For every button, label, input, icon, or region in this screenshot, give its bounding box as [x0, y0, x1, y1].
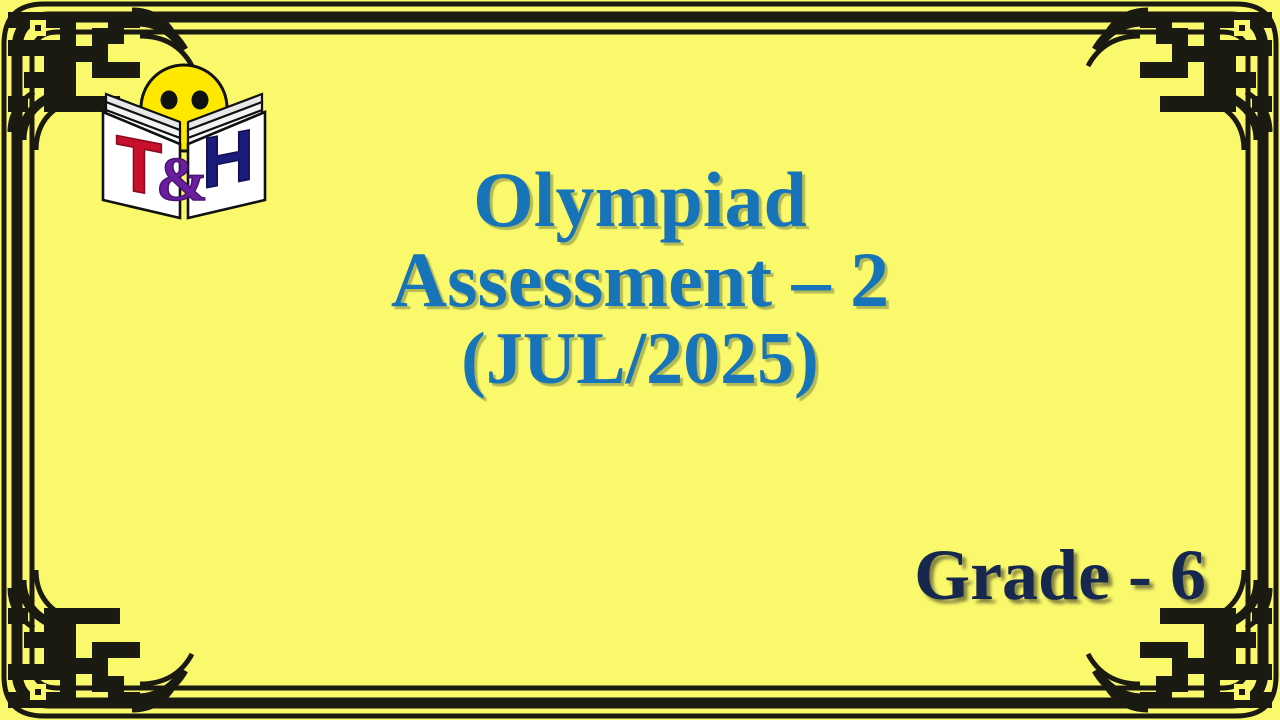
title-slide: & T H Olympiad Assessment – 2 (JUL/2025)… [0, 0, 1280, 720]
logo-letter-t: T [116, 120, 163, 213]
title-line-assessment: Assessment – 2 [310, 240, 970, 320]
corner-ornament-bottom-left [8, 570, 192, 710]
logo-letter-h: H [202, 114, 254, 204]
corner-ornament-top-right [1088, 10, 1272, 150]
t-and-h-book-logo: & T H [92, 50, 272, 222]
title-line-olympiad: Olympiad [310, 160, 970, 240]
title-line-month-year: (JUL/2025) [310, 321, 970, 397]
page-title: Olympiad Assessment – 2 (JUL/2025) [310, 160, 970, 397]
logo-artwork: & T H [92, 50, 272, 222]
grade-label: Grade - 6 [914, 534, 1206, 617]
logo-letter-ampersand: & [156, 146, 208, 214]
